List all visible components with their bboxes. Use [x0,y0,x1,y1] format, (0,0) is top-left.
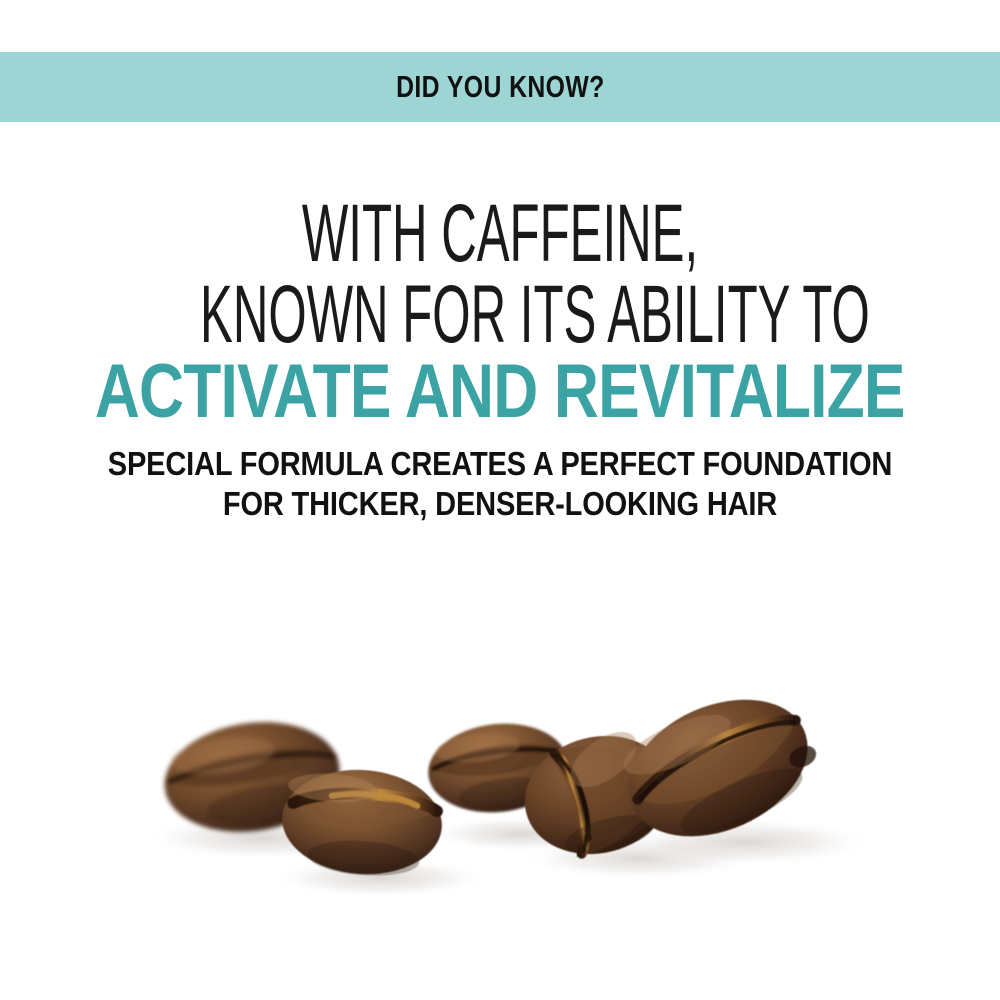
subtitle-line-1: SPECIAL FORMULA CREATES A PERFECT FOUNDA… [60,444,940,484]
headline-line-2: KNOWN FOR ITS ABILITY TO [200,277,800,352]
did-you-know-banner: DID YOU KNOW? [0,52,1000,122]
headline-block: WITH CAFFEINE, KNOWN FOR ITS ABILITY TO [0,196,1000,353]
emphasis-block: ACTIVATE AND REVITALIZE [0,348,1000,435]
coffee-beans-illustration [0,620,1000,950]
emphasis-text: ACTIVATE AND REVITALIZE [95,348,905,435]
subtitle-line-2: FOR THICKER, DENSER-LOOKING HAIR [60,484,940,524]
coffee-beans-photo [0,620,1000,950]
subtitle-block: SPECIAL FORMULA CREATES A PERFECT FOUNDA… [0,444,1000,525]
headline-line-1: WITH CAFFEINE, [200,196,800,271]
promo-poster: DID YOU KNOW? WITH CAFFEINE, KNOWN FOR I… [0,0,1000,1000]
banner-title: DID YOU KNOW? [396,69,605,105]
